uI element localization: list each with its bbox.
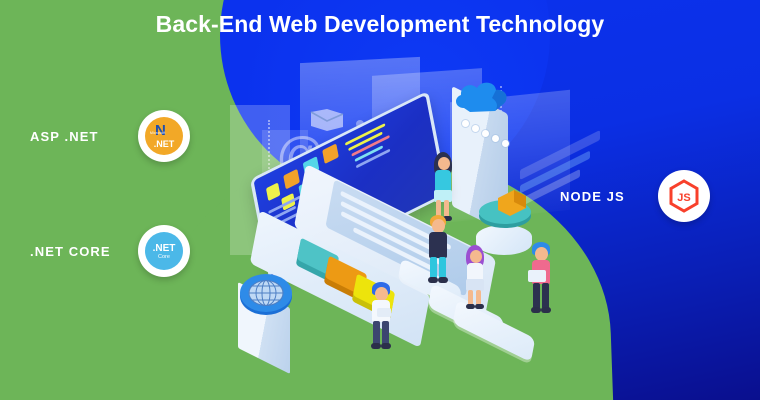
nodejs-hexagon-glyph: JS bbox=[667, 179, 701, 213]
tech-item-nodejs[interactable]: NODE JS JS bbox=[560, 170, 710, 222]
pie-chart-highlight-slice bbox=[494, 184, 528, 218]
dotnet-core-icon[interactable]: .NET Core bbox=[138, 225, 190, 277]
person-man-blue-cap bbox=[368, 282, 398, 354]
dotnet-wordmark: .NET bbox=[145, 139, 183, 149]
dotnet-core-subtext: Core bbox=[158, 255, 170, 261]
asp-dotnet-icon[interactable]: N Microsoft .NET bbox=[138, 110, 190, 162]
person-man-navy bbox=[425, 215, 455, 287]
svg-text:JS: JS bbox=[677, 192, 690, 204]
tech-item-asp-dotnet[interactable]: ASP .NET N Microsoft .NET bbox=[30, 110, 190, 162]
globe-icon bbox=[238, 272, 294, 316]
cloud-icon bbox=[450, 78, 516, 120]
person-woman-teal bbox=[430, 152, 460, 222]
page-title: Back-End Web Development Technology bbox=[0, 11, 760, 38]
tech-label-nodejs: NODE JS bbox=[560, 189, 625, 204]
microsoft-wordmark: Microsoft bbox=[150, 131, 166, 135]
tech-label-dotnet-core: .NET CORE bbox=[30, 244, 111, 259]
nodejs-icon[interactable]: JS bbox=[658, 170, 710, 222]
person-man-pink bbox=[528, 242, 558, 318]
person-woman-purple bbox=[462, 245, 492, 313]
tech-item-dotnet-core[interactable]: .NET CORE .NET Core bbox=[30, 225, 190, 277]
tech-label-asp-dotnet: ASP .NET bbox=[30, 129, 99, 144]
banner-illustration: @ bbox=[0, 0, 760, 400]
dotnet-core-wordmark: .NET bbox=[153, 244, 176, 254]
envelope-icon bbox=[310, 108, 344, 132]
